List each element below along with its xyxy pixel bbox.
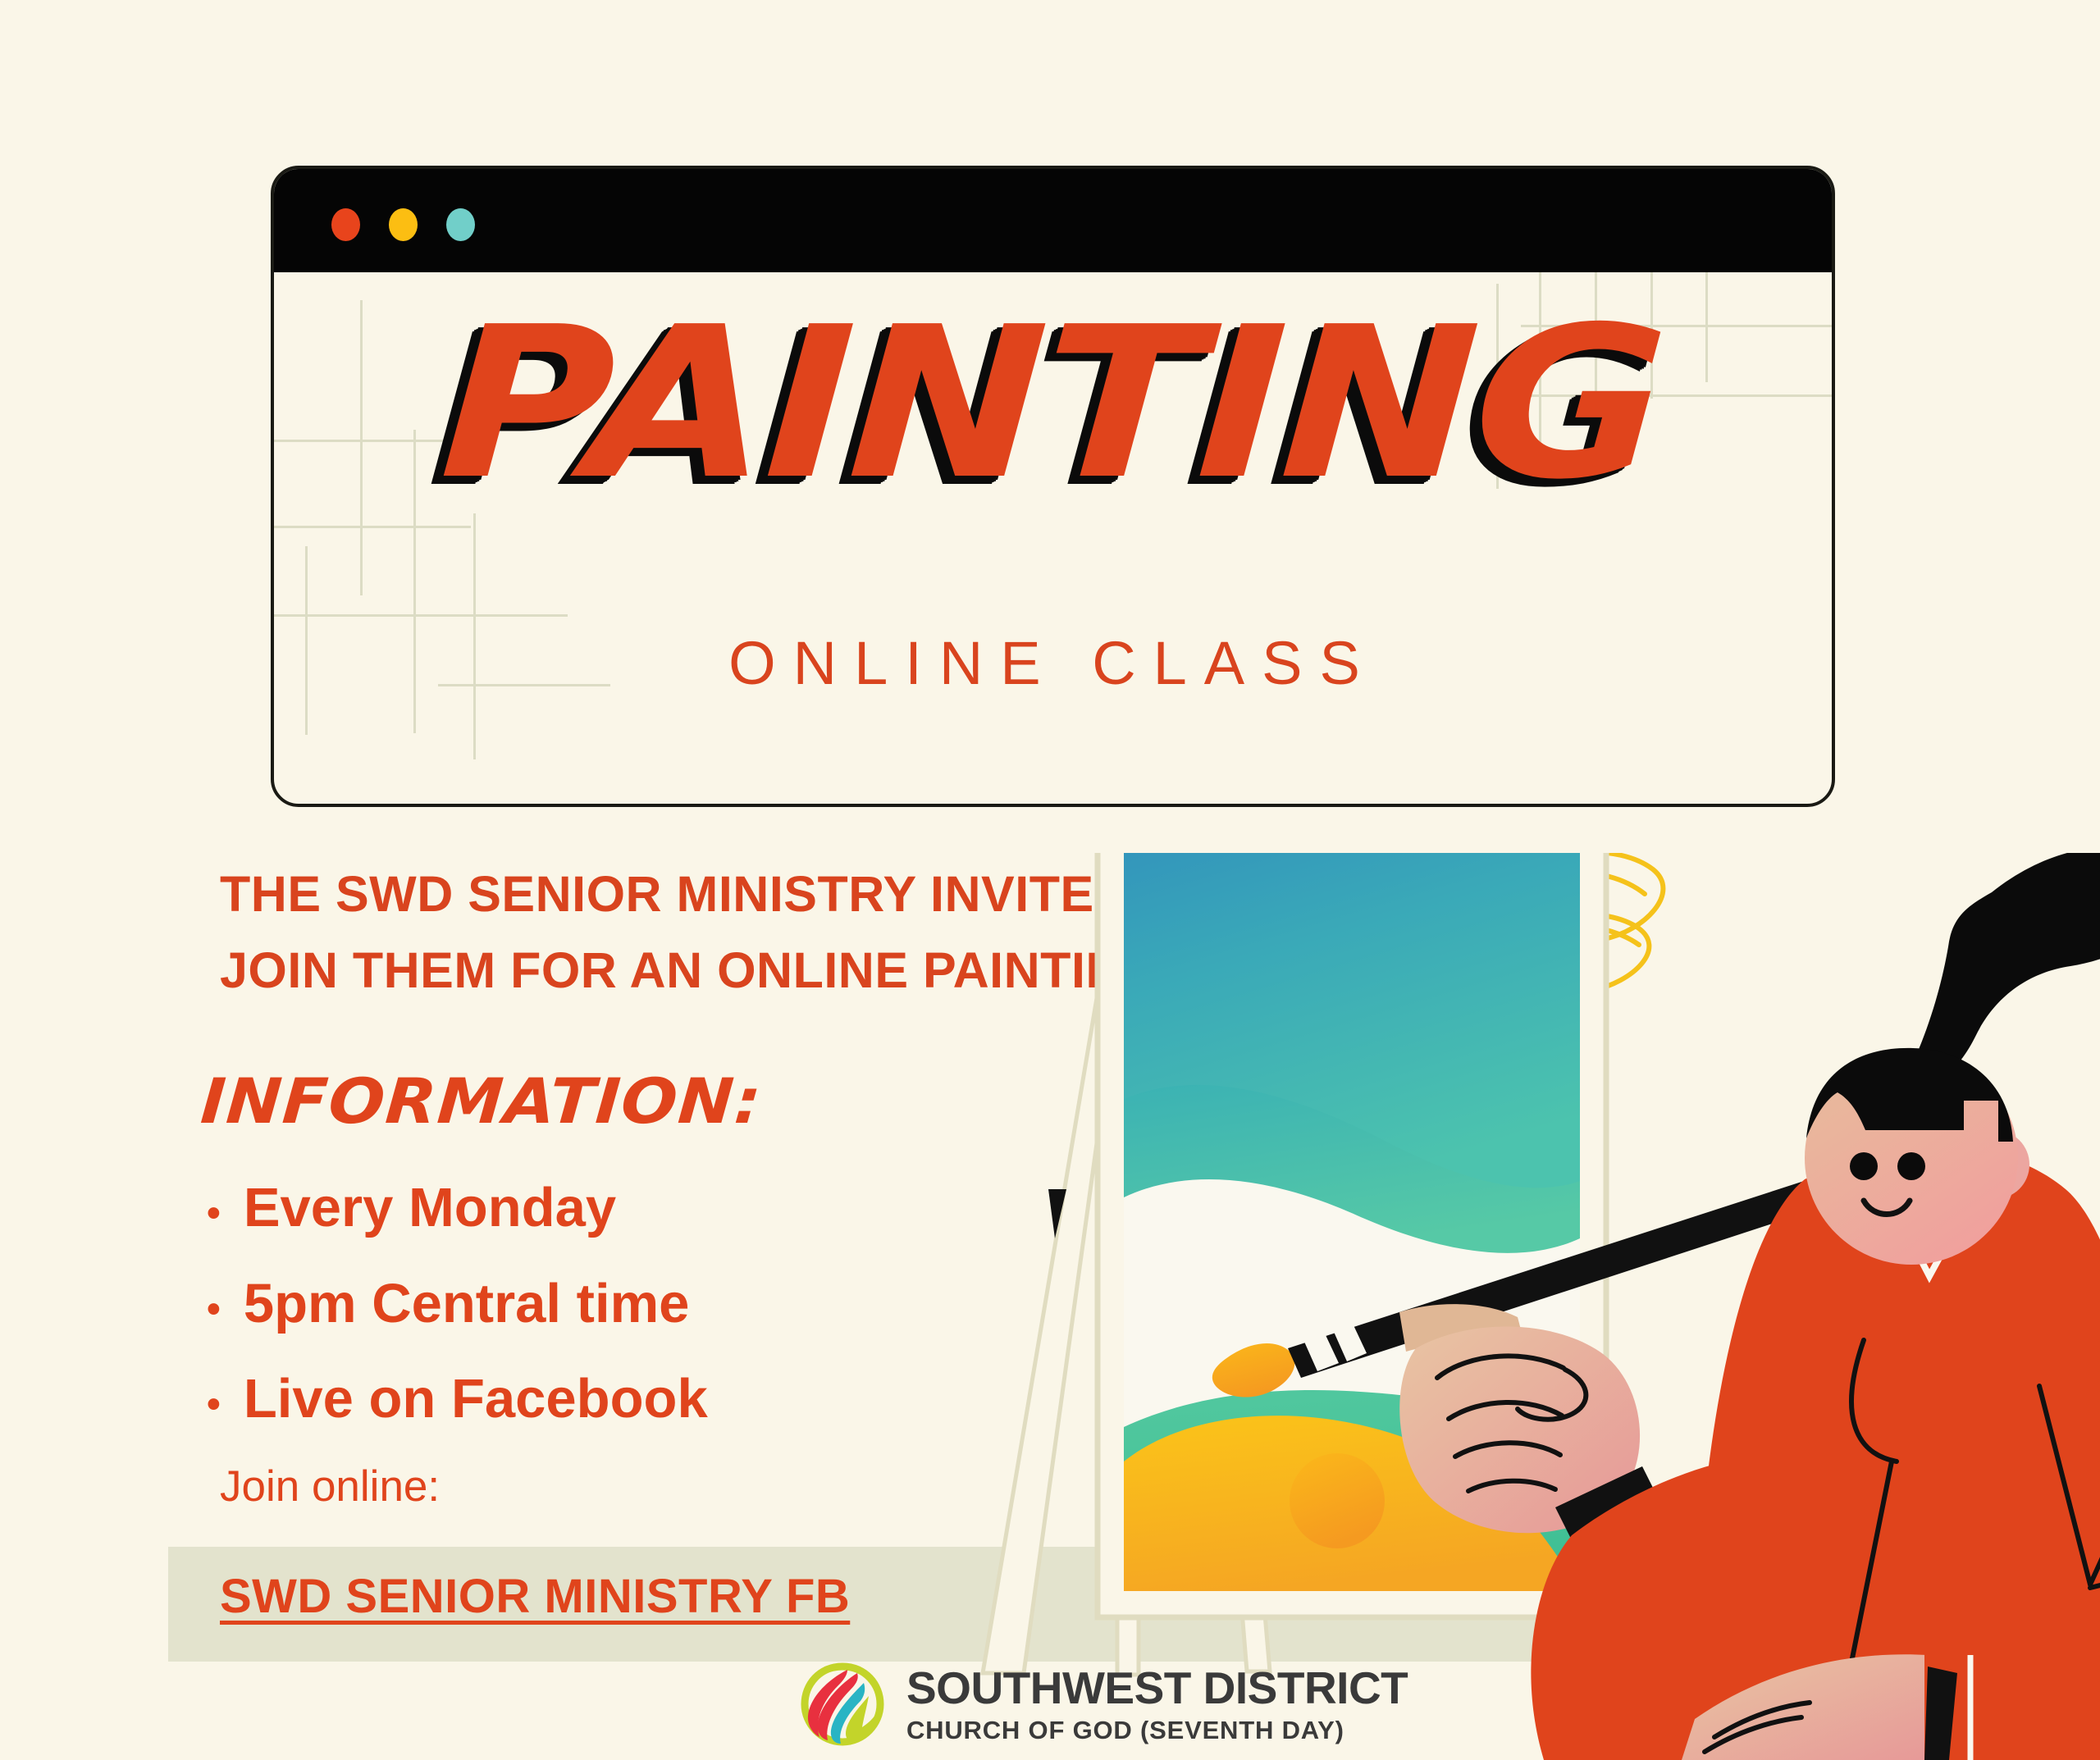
browser-title-bar [272,167,1833,272]
list-item: • Every Monday [207,1160,708,1256]
close-dot-icon[interactable] [331,208,360,241]
footer-branding: SOUTHWEST DISTRICT CHURCH OF GOD (SEVENT… [800,1662,1408,1747]
minimize-dot-icon[interactable] [389,208,418,241]
poster-canvas: PAINTING ONLINE CLASS THE SWD SENIOR MIN… [0,0,2100,1760]
paint-dot [1290,1453,1385,1548]
bullet-icon: • [207,1385,221,1425]
grid-mark [274,440,471,442]
list-item: • 5pm Central time [207,1256,708,1352]
grid-mark [274,526,471,528]
grid-mark [1496,284,1499,489]
grid-mark [412,614,568,617]
footer-text: SOUTHWEST DISTRICT CHURCH OF GOD (SEVENT… [906,1666,1408,1743]
list-item-label: Live on Facebook [244,1352,708,1448]
grid-mark [1521,325,1835,327]
information-list: • Every Monday • 5pm Central time • Live… [207,1160,708,1448]
maximize-dot-icon[interactable] [446,208,475,241]
browser-window-card: PAINTING ONLINE CLASS [271,166,1835,807]
illustration-woman-painting [861,853,2100,1760]
grid-mark [1521,394,1835,397]
window-controls [331,208,475,241]
bullet-icon: • [207,1290,221,1329]
southwest-district-flame-logo [800,1662,885,1747]
list-item-label: 5pm Central time [244,1256,690,1352]
title-container: PAINTING [274,308,1832,501]
facebook-link[interactable]: SWD SENIOR MINISTRY FB [220,1569,850,1624]
footer-line-2: CHURCH OF GOD (SEVENTH DAY) [906,1717,1408,1743]
grid-mark [360,300,363,595]
list-item-label: Every Monday [244,1160,616,1256]
join-online-label: Join online: [220,1461,440,1512]
bullet-icon: • [207,1194,221,1233]
list-item: • Live on Facebook [207,1352,708,1448]
page-title: PAINTING [437,308,1668,501]
page-subtitle: ONLINE CLASS [274,628,1832,698]
footer-line-1: SOUTHWEST DISTRICT [906,1666,1408,1711]
information-heading: INFORMATION: [199,1065,765,1138]
